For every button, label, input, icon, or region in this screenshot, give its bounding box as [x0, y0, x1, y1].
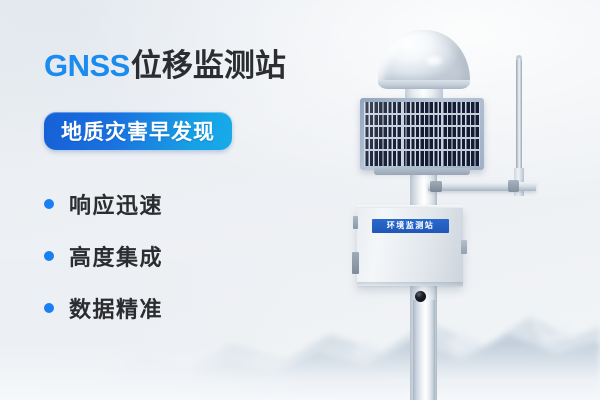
whip-antenna-icon	[516, 58, 522, 184]
list-item-label: 响应迅速	[69, 188, 163, 220]
marketing-text-block: GNSS位移监测站 地质灾害早发现 响应迅速 高度集成 数据精准	[0, 0, 340, 400]
cabinet-name-plate: 环境监测站	[372, 219, 449, 233]
gnss-dome-antenna-icon	[378, 30, 470, 86]
crossarm-bolt-left	[430, 181, 442, 192]
bullet-dot-icon	[44, 199, 54, 209]
bullet-dot-icon	[44, 251, 54, 261]
solar-panel-cells	[364, 102, 480, 166]
list-item: 高度集成	[44, 230, 294, 282]
bullet-dot-icon	[44, 303, 54, 313]
feature-list: 响应迅速 高度集成 数据精准	[44, 178, 294, 334]
pole-sensor-icon	[415, 291, 426, 302]
cabinet-latch-lower-left	[352, 252, 359, 274]
status-badge: 地质灾害早发现	[44, 112, 232, 150]
list-item-label: 数据精准	[69, 292, 163, 324]
cabinet-name-plate-text: 环境监测站	[387, 222, 435, 230]
list-item: 数据精准	[44, 282, 294, 334]
solar-panel-icon	[360, 98, 484, 170]
page-title: GNSS位移监测站	[44, 50, 286, 81]
headline-brand: GNSS	[44, 48, 130, 83]
solar-panel-mount	[374, 168, 470, 175]
crossarm-bolt-right	[508, 180, 519, 192]
status-badge-label: 地质灾害早发现	[61, 116, 215, 146]
mounting-pole-lower	[413, 300, 435, 400]
gnss-monitoring-station-illustration: 环境监测站	[300, 0, 600, 400]
gnss-product-banner: 环境监测站 GNSS位移监测站 地质灾害早发现 响应迅速 高度集成 数据精准	[0, 0, 600, 400]
headline-rest: 位移监测站	[131, 48, 286, 83]
cabinet-latch-upper-left	[353, 216, 358, 229]
cabinet-latch-right	[461, 240, 467, 254]
dome-antenna-rim	[378, 80, 470, 89]
list-item-label: 高度集成	[69, 240, 163, 272]
cabinet-drop-shadow	[357, 282, 463, 288]
dome-highlight	[426, 56, 442, 65]
crossarm-bracket	[428, 182, 536, 191]
list-item: 响应迅速	[44, 178, 294, 230]
